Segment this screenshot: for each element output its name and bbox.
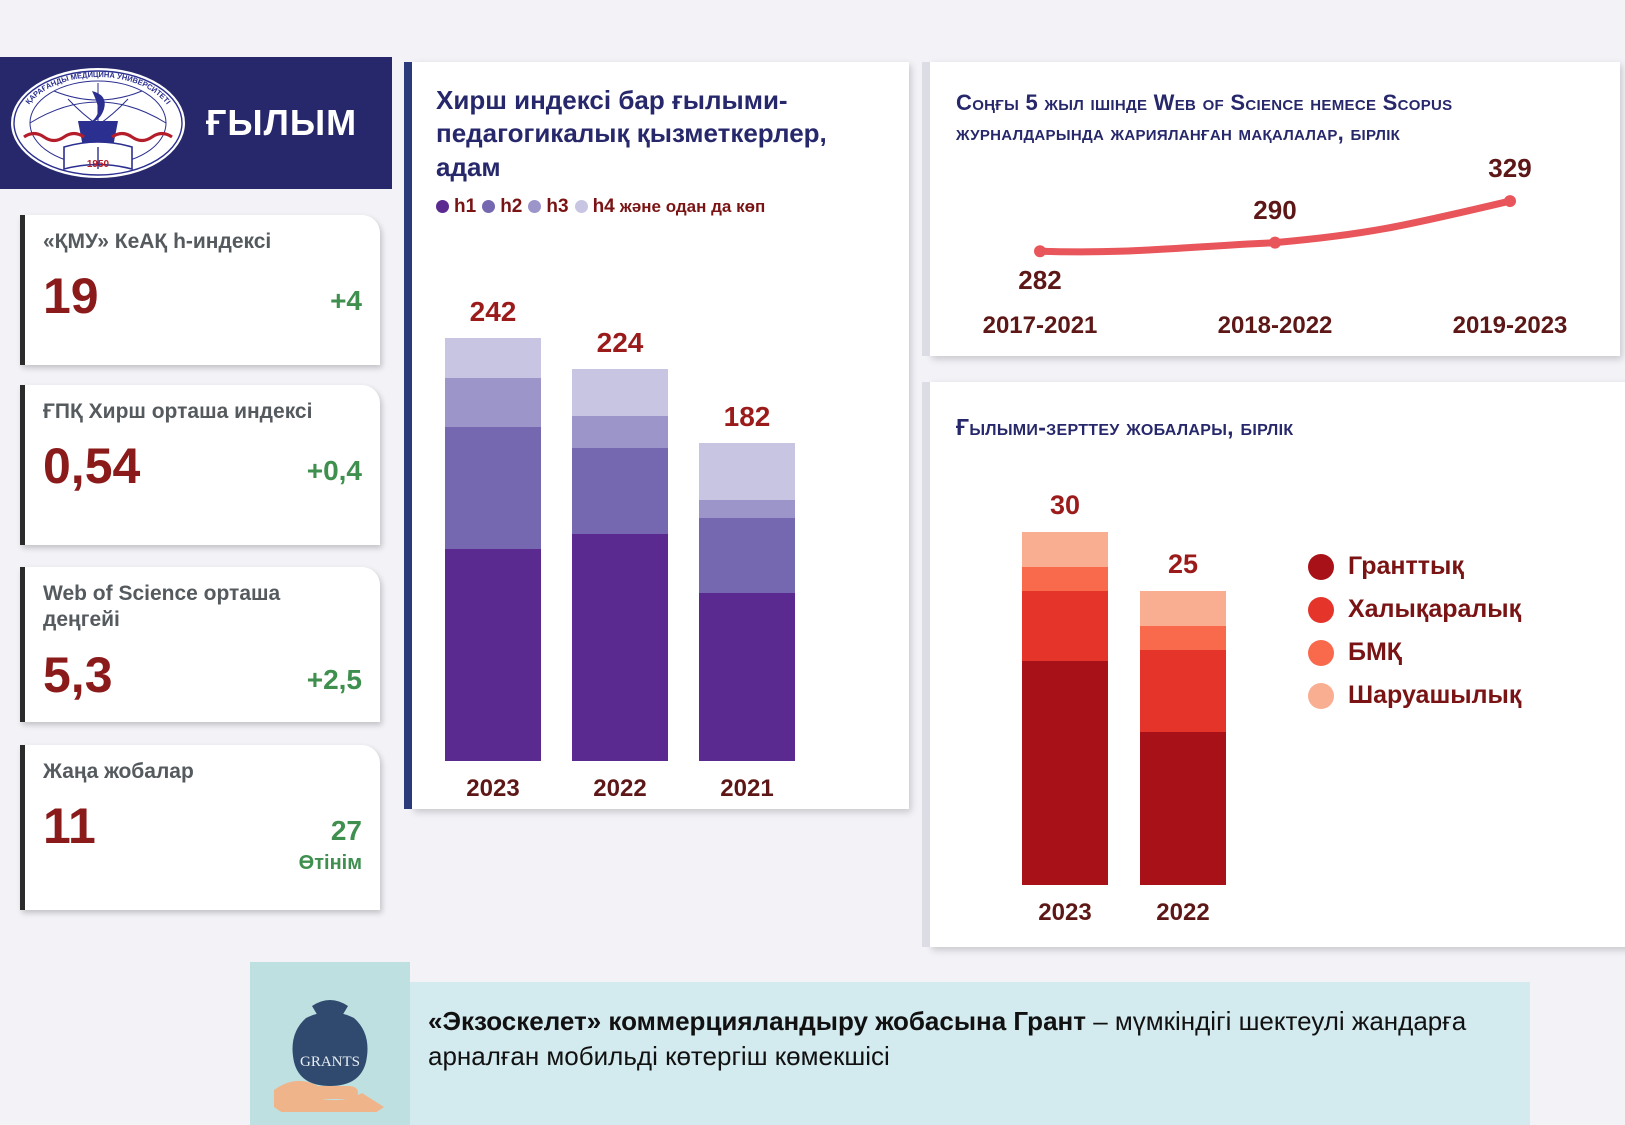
legend-item-h3: h3 xyxy=(528,196,568,218)
legend-item-international: Халықаралық xyxy=(1308,595,1521,624)
line-category-label: 2019-2023 xyxy=(1425,312,1595,340)
bar-segment-h1 xyxy=(445,549,541,761)
legend-label: Шаруашылық xyxy=(1348,681,1521,710)
kpi-value: 19 xyxy=(43,271,99,321)
bar-segment-БМҚ xyxy=(1140,626,1226,650)
bar-segment-БМҚ xyxy=(1022,567,1108,591)
line-category-label: 2017-2021 xyxy=(955,312,1125,340)
kpi-delta: +2,5 xyxy=(307,664,362,696)
banner-text-line: «Экзоскелет» коммерцияландыру жобасына Г… xyxy=(428,1004,1506,1074)
hirsch-legend: h1 h2 h3 h4 және одан да көп xyxy=(412,184,909,218)
bar-segment-Гранттық xyxy=(1140,732,1226,885)
legend-swatch-icon xyxy=(1308,554,1334,580)
banner-strong-text: «Экзоскелет» коммерцияландыру жобасына Г… xyxy=(428,1006,1086,1036)
legend-label: h1 xyxy=(454,196,476,218)
bar-total-label: 25 xyxy=(1140,549,1226,580)
kpi-card-h-index: «ҚМУ» КеАҚ h-индексі 19 +4 xyxy=(20,215,380,365)
hirsch-bars-area: 242202322420221822021 xyxy=(412,312,909,809)
kpi-label: ҒПҚ Хирш орташа индексі xyxy=(43,399,362,425)
bar-stack xyxy=(699,443,795,762)
bar-segment-h1 xyxy=(572,534,668,762)
data-point-2018-2022 xyxy=(1269,237,1281,249)
bar-category-label: 2023 xyxy=(1022,899,1108,927)
legend-label: h3 xyxy=(546,196,568,218)
bar-column-2023: 302023 xyxy=(1022,532,1108,885)
grants-bag-label: GRANTS xyxy=(300,1054,360,1070)
kpi-card-wos-level: Web of Science орташа деңгейі 5,3 +2,5 xyxy=(20,567,380,722)
kpi-card-new-projects: Жаңа жобалар 11 27 Өтінім xyxy=(20,745,380,910)
hirsch-staff-panel: Хирш индексі бар ғылыми-педагогикалық қы… xyxy=(412,62,909,809)
line-data-label-2019-2023: 329 xyxy=(1450,153,1570,184)
bar-total-label: 30 xyxy=(1022,490,1108,521)
bar-total-label: 224 xyxy=(572,327,668,359)
legend-swatch-icon xyxy=(1308,597,1334,623)
bar-category-label: 2021 xyxy=(699,775,795,803)
bar-total-label: 182 xyxy=(699,401,795,433)
bar-segment-h4 xyxy=(572,369,668,416)
bar-stack xyxy=(1140,591,1226,885)
grant-banner: «Экзоскелет» коммерцияландыру жобасына Г… xyxy=(410,982,1530,1125)
bar-column-2022: 2242022 xyxy=(572,369,668,761)
bar-stack xyxy=(1022,532,1108,885)
bar-segment-Халықаралық xyxy=(1022,591,1108,662)
bar-segment-Шаруашылық xyxy=(1022,532,1108,567)
legend-item-grant: Гранттық xyxy=(1308,552,1521,581)
legend-swatch-icon xyxy=(1308,640,1334,666)
bar-category-label: 2022 xyxy=(1140,899,1226,927)
kpi-label: «ҚМУ» КеАҚ h-индексі xyxy=(43,229,362,255)
panel-accent-bar xyxy=(404,62,412,809)
bar-segment-Гранттық xyxy=(1022,661,1108,885)
header-bar: 1950 ҚАРАҒАНДЫ МЕДИЦИНА УНИВЕРСИТЕТІ ҒЫЛ… xyxy=(0,57,392,189)
bar-segment-h3 xyxy=(572,416,668,448)
bar-segment-h2 xyxy=(445,427,541,550)
bar-segment-h3 xyxy=(699,500,795,518)
grants-illustration: GRANTS xyxy=(250,962,410,1125)
bar-segment-h4 xyxy=(699,443,795,501)
kpi-value: 0,54 xyxy=(43,441,140,491)
bar-segment-h3 xyxy=(445,378,541,427)
kpi-label: Жаңа жобалар xyxy=(43,759,362,785)
kpi-value: 5,3 xyxy=(43,650,113,700)
legend-swatch-icon xyxy=(482,200,495,213)
bar-segment-h2 xyxy=(699,518,795,593)
legend-label: Халықаралық xyxy=(1348,595,1521,624)
bar-stack xyxy=(445,338,541,762)
legend-extra-label: және одан да көп xyxy=(620,197,765,217)
bar-segment-Шаруашылық xyxy=(1140,591,1226,626)
bar-segment-Халықаралық xyxy=(1140,650,1226,732)
kpi-value: 11 xyxy=(43,801,96,851)
page-title: ҒЫЛЫМ xyxy=(206,102,357,144)
data-point-2019-2023 xyxy=(1504,195,1516,207)
projects-panel: Ғылыми-зерттеу жобалары, бірлік 30202325… xyxy=(930,382,1625,947)
bar-total-label: 242 xyxy=(445,296,541,328)
bar-segment-h4 xyxy=(445,338,541,378)
articles-line-chart: 2822903292017-20212018-20222019-2023 xyxy=(930,172,1620,356)
kpi-delta: 27 xyxy=(331,815,362,847)
bar-stack xyxy=(572,369,668,761)
bar-segment-h1 xyxy=(699,593,795,761)
articles-panel: Соңғы 5 жыл ішінде Web of Science немесе… xyxy=(930,62,1620,356)
bar-segment-h2 xyxy=(572,448,668,534)
bar-column-2023: 2422023 xyxy=(445,338,541,762)
bar-category-label: 2022 xyxy=(572,775,668,803)
articles-chart-title: Соңғы 5 жыл ішінде Web of Science немесе… xyxy=(930,62,1620,147)
kpi-delta: +0,4 xyxy=(307,455,362,487)
legend-label: h4 xyxy=(593,196,615,218)
kpi-card-avg-hirsch: ҒПҚ Хирш орташа индексі 0,54 +0,4 xyxy=(20,385,380,545)
bar-column-2022: 252022 xyxy=(1140,591,1226,885)
line-data-label-2018-2022: 290 xyxy=(1215,195,1335,226)
line-data-label-2017-2021: 282 xyxy=(980,265,1100,296)
line-category-label: 2018-2022 xyxy=(1190,312,1360,340)
legend-label: БМҚ xyxy=(1348,638,1402,667)
legend-swatch-icon xyxy=(436,200,449,213)
projects-legend: Гранттық Халықаралық БМҚ Шаруашылық xyxy=(1308,552,1521,724)
projects-chart-title: Ғылыми-зерттеу жобалары, бірлік xyxy=(930,382,1625,441)
kpi-label: Web of Science орташа деңгейі xyxy=(43,581,362,634)
legend-swatch-icon xyxy=(575,200,588,213)
legend-item-bmk: БМҚ xyxy=(1308,638,1521,667)
legend-swatch-icon xyxy=(1308,683,1334,709)
legend-swatch-icon xyxy=(528,200,541,213)
data-point-2017-2021 xyxy=(1034,245,1046,257)
legend-item-h1: h1 xyxy=(436,196,476,218)
legend-label: h2 xyxy=(500,196,522,218)
panel-accent-bar xyxy=(922,62,930,356)
legend-item-h4: h4 және одан да көп xyxy=(575,196,766,218)
kmu-logo: 1950 ҚАРАҒАНДЫ МЕДИЦИНА УНИВЕРСИТЕТІ xyxy=(8,63,188,183)
legend-item-h2: h2 xyxy=(482,196,522,218)
panel-accent-bar xyxy=(922,382,930,947)
legend-item-economic: Шаруашылық xyxy=(1308,681,1521,710)
legend-label: Гранттық xyxy=(1348,552,1464,581)
kpi-delta: +4 xyxy=(330,285,362,317)
hirsch-chart-title: Хирш индексі бар ғылыми-педагогикалық қы… xyxy=(412,62,909,184)
logo-year: 1950 xyxy=(87,159,110,170)
bar-category-label: 2023 xyxy=(445,775,541,803)
bar-column-2021: 1822021 xyxy=(699,443,795,762)
kpi-delta-sublabel: Өтінім xyxy=(299,852,362,875)
